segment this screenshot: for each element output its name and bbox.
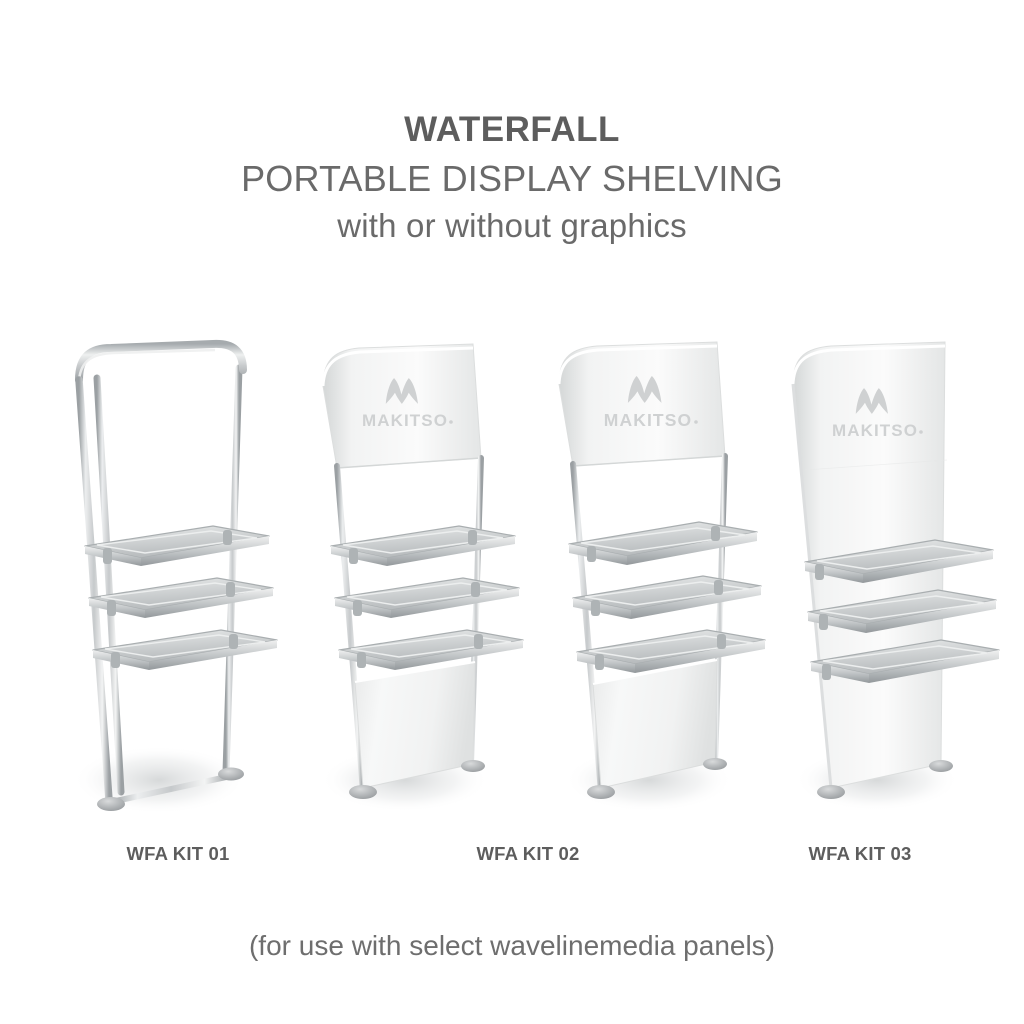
page-tagline: with or without graphics [0,209,1024,242]
shelf-2[interactable] [335,578,519,618]
frame-post-left [573,464,601,792]
frame-post-right [715,456,725,762]
shelf-1[interactable] [331,526,515,566]
makitso-wordmark: MAKITSO [832,421,918,440]
product-wfa-kit-02-a[interactable]: MAKITSO [305,340,535,830]
makitso-wordmark: MAKITSO [362,411,448,430]
frame-post-left [337,466,363,792]
caption-wfa-kit-01: WFA KIT 01 [48,843,308,865]
frame-foot-right [218,768,244,781]
caption-wfa-kit-03: WFA KIT 03 [730,843,990,865]
frame-post-front-left [79,380,109,800]
frame-foot-right [929,760,953,772]
frame-foot-right [461,760,485,772]
caption-wfa-kit-02: WFA KIT 02 [398,843,658,865]
frame-foot-left [349,785,377,799]
product-wfa-kit-02-b[interactable]: MAKITSO [545,340,775,830]
shelf-3[interactable] [577,630,765,673]
frame-foot-left [817,785,845,799]
frame-foot-left [587,785,615,799]
top-graphic-panel [559,342,725,466]
frame-foot-left [97,797,125,811]
shelf-2[interactable] [573,576,761,619]
shelf-3[interactable] [339,630,523,670]
page-title: WATERFALL [0,112,1024,147]
shelf-2[interactable] [89,578,273,618]
footnote: (for use with select wavelinemedia panel… [0,930,1024,962]
shelf-3[interactable] [93,630,277,670]
makitso-wordmark: MAKITSO [604,410,692,430]
product-wfa-kit-01[interactable] [63,340,293,830]
shelf-1[interactable] [569,522,757,565]
frame-post-rear-right [226,368,239,772]
page-title-block: WATERFALL PORTABLE DISPLAY SHELVING with… [0,112,1024,242]
top-graphic-panel [323,344,481,468]
waterfall-curve-top [79,344,243,380]
product-wfa-kit-03[interactable]: MAKITSO [775,340,1005,830]
frame-foot-right [703,758,727,770]
product-showcase: MAKITSO [0,340,1024,830]
page-subtitle: PORTABLE DISPLAY SHELVING [0,161,1024,197]
shelf-1[interactable] [85,526,269,566]
